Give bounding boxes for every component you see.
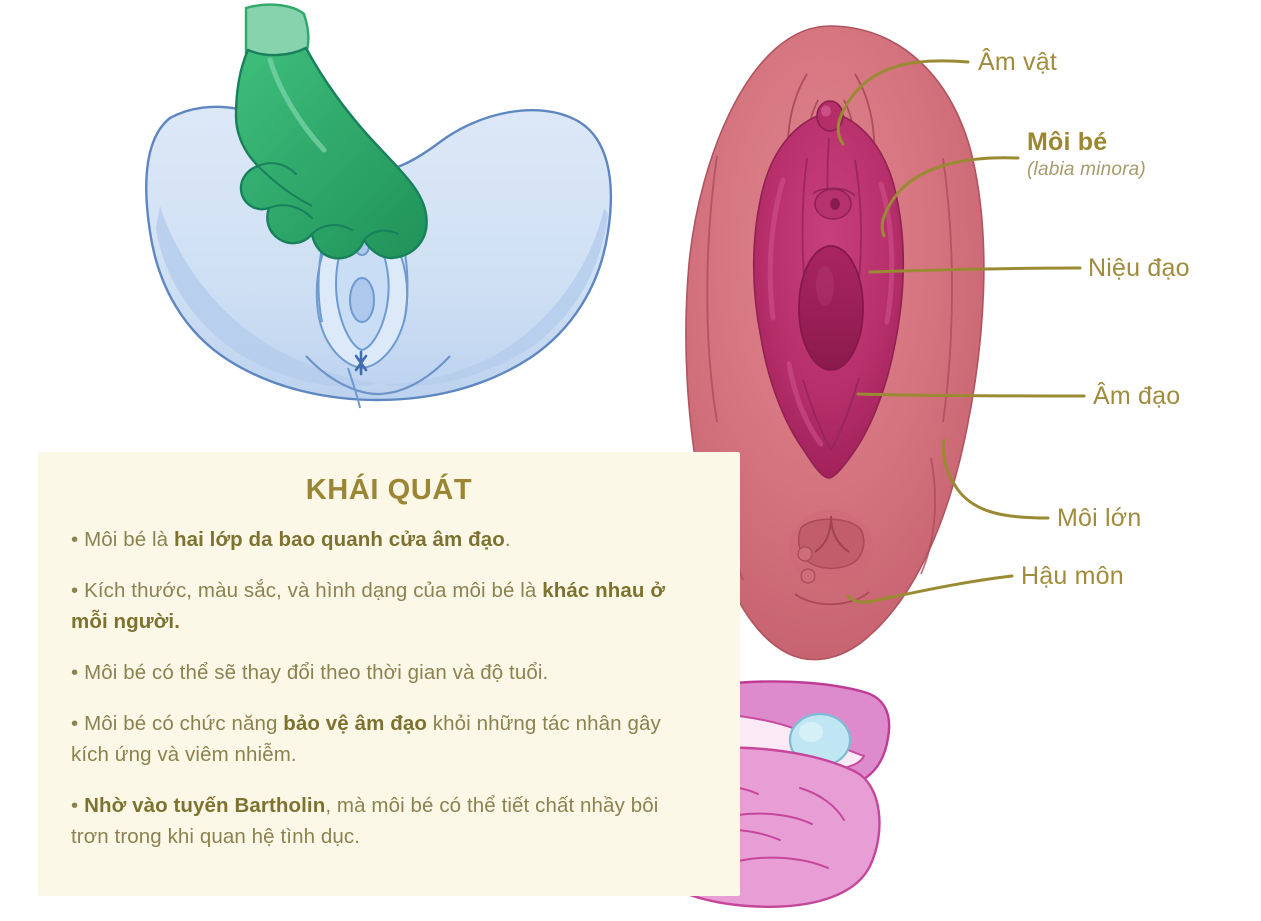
page-title: KHÁI QUÁT	[38, 474, 740, 507]
overview-bullet: • Nhờ vào tuyến Bartholin, mà môi bé có …	[71, 790, 701, 852]
overview-bullet: • Kích thước, màu sắc, và hình dạng của …	[71, 575, 701, 637]
anatomy-label-text: Âm đạo	[1093, 382, 1180, 410]
anatomy-label-moi-lon: Môi lớn	[1057, 504, 1141, 533]
anatomy-label-text: Môi bé	[1027, 128, 1107, 156]
anatomy-label-text: Hậu môn	[1021, 562, 1124, 590]
anatomy-label-hau-mon: Hậu môn	[1021, 562, 1124, 591]
overview-bullet: • Môi bé có thể sẽ thay đổi theo thời gi…	[71, 657, 701, 688]
anatomy-label-nieu-dao: Niệu đạo	[1088, 254, 1190, 283]
infographic-canvas: Âm vậtMôi bé(labia minora)Niệu đạoÂm đạo…	[0, 0, 1261, 921]
anatomy-label-am-dao: Âm đạo	[1093, 382, 1180, 411]
overview-bullet: • Môi bé là hai lớp da bao quanh cửa âm …	[71, 524, 701, 555]
anatomy-label-text: Môi lớn	[1057, 504, 1141, 532]
anatomy-label-am-vat: Âm vật	[978, 48, 1057, 77]
overview-bullet: • Môi bé có chức năng bảo vệ âm đạo khỏi…	[71, 708, 701, 770]
overview-info-panel: KHÁI QUÁT • Môi bé là hai lớp da bao qua…	[38, 452, 740, 896]
vaginal-opening-marker	[799, 246, 863, 370]
anatomy-label-text: Niệu đạo	[1088, 254, 1190, 282]
anatomy-label-moi-be: Môi bé(labia minora)	[1027, 128, 1146, 181]
gloved-hand-exam-illustration	[60, 0, 640, 440]
anatomy-label-text: Âm vật	[978, 48, 1057, 76]
anatomy-label-latin: (labia minora)	[1027, 159, 1146, 181]
overview-bullet-list: • Môi bé là hai lớp da bao quanh cửa âm …	[71, 524, 701, 852]
clitoris-marker	[817, 101, 843, 131]
